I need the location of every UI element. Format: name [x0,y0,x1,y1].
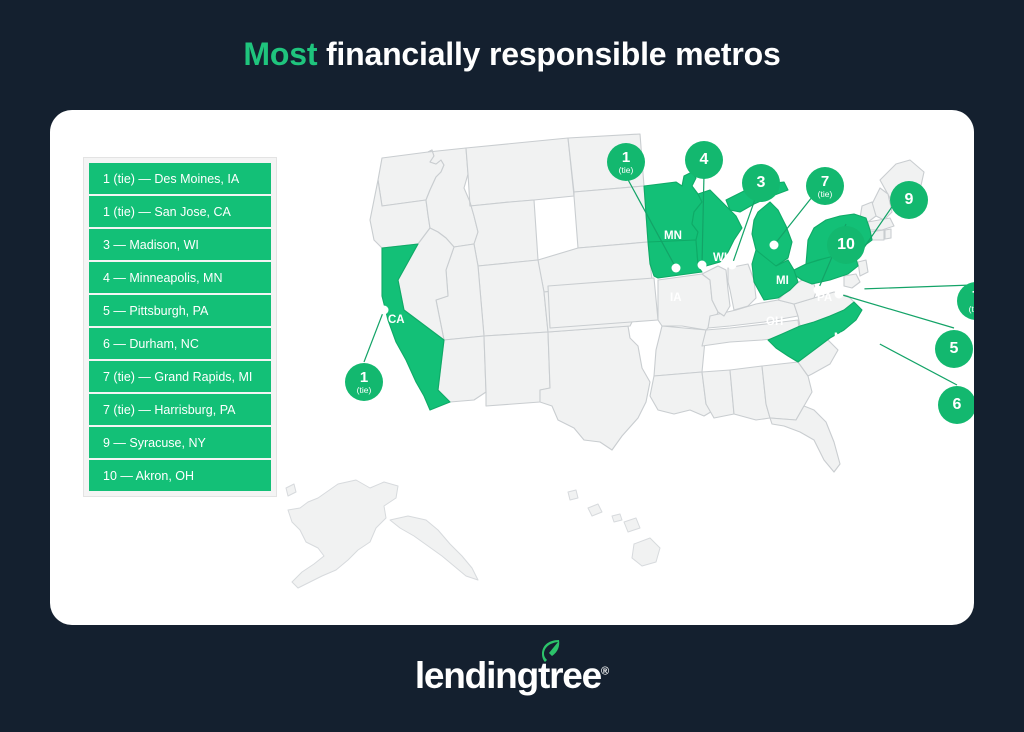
marker-rank: 10 [837,237,855,253]
page-title: Most financially responsible metros [0,36,1024,73]
city-dot-harrisburg [856,285,865,294]
marker-tie-label: (tie) [818,190,833,199]
list-item[interactable]: 1 (tie) — San Jose, CA [89,196,271,227]
marker-tie-label: (tie) [969,305,974,314]
marker-des-moines[interactable]: 1 (tie) [607,143,645,181]
list-item[interactable]: 6 — Durham, NC [89,328,271,359]
marker-grand-rapids[interactable]: 7 (tie) [806,167,844,205]
city-dot-durham [872,338,881,347]
marker-durham[interactable]: 6 [938,386,974,424]
marker-rank: 1 [360,370,368,385]
leader-line-pittsburgh [839,294,954,328]
logo-wordmark-wrap: lendingtree® [415,655,609,697]
marker-pittsburgh[interactable]: 5 [935,330,973,368]
city-dot-madison [728,261,737,270]
marker-rank: 9 [905,192,914,208]
list-item[interactable]: 7 (tie) — Grand Rapids, MI [89,361,271,392]
leaf-icon [540,639,561,663]
list-item[interactable]: 4 — Minneapolis, MN [89,262,271,293]
leader-line-harrisburg [860,285,972,289]
leader-line-minneapolis [702,174,704,265]
city-dot-pittsburgh [835,290,844,299]
logo-text: lendingtree [415,655,601,696]
infographic-page: Most financially responsible metros 1 (t… [0,0,1024,732]
city-dot-san-jose [380,306,389,315]
list-item[interactable]: 9 — Syracuse, NY [89,427,271,458]
marker-rank: 3 [757,175,766,191]
marker-rank: 1 [622,150,630,165]
city-dot-akron [814,286,823,295]
marker-minneapolis[interactable]: 4 [685,141,723,179]
marker-san-jose[interactable]: 1 (tie) [345,363,383,401]
leader-line-san-jose [364,310,384,362]
marker-madison[interactable]: 3 [742,164,780,202]
city-dot-minneapolis [698,261,707,270]
list-item[interactable]: 7 (tie) — Harrisburg, PA [89,394,271,425]
marker-tie-label: (tie) [357,386,372,395]
list-item[interactable]: 10 — Akron, OH [89,460,271,491]
brand-logo: lendingtree® [0,655,1024,697]
marker-rank: 7 [821,174,829,189]
map-card: 1 (tie) — Des Moines, IA 1 (tie) — San J… [50,110,974,625]
marker-rank: 7 [972,289,974,304]
marker-syracuse[interactable]: 9 [890,181,928,219]
page-title-accent: Most [243,36,317,72]
leader-line-des-moines [626,176,676,268]
marker-akron[interactable]: 10 [827,226,865,264]
marker-rank: 4 [700,152,709,168]
list-item[interactable]: 3 — Madison, WI [89,229,271,260]
city-dot-des-moines [672,264,681,273]
marker-rank: 5 [950,341,959,357]
us-map: MN WI IA MI OH PA NY NC CA 1 (tie) [278,120,974,625]
ranking-legend: 1 (tie) — Des Moines, IA 1 (tie) — San J… [83,157,277,497]
city-dot-grand-rapids [770,241,779,250]
list-item[interactable]: 1 (tie) — Des Moines, IA [89,163,271,194]
list-item[interactable]: 5 — Pittsburgh, PA [89,295,271,326]
marker-tie-label: (tie) [619,166,634,175]
leader-lines [278,120,974,625]
page-title-rest: financially responsible metros [317,36,780,72]
logo-registered-mark: ® [601,666,609,678]
marker-rank: 6 [953,397,962,413]
